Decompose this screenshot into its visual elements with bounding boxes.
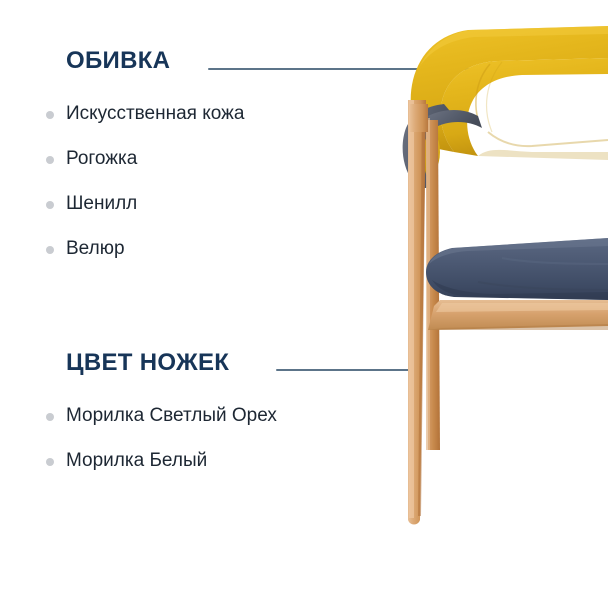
bullet-dot-icon xyxy=(46,458,54,466)
bullet-dot-icon xyxy=(46,201,54,209)
bullet-dot-icon xyxy=(46,246,54,254)
list-item-label: Морилка Белый xyxy=(66,450,207,471)
list-item: Искусственная кожа xyxy=(40,102,244,126)
list-item: Шенилл xyxy=(40,192,244,216)
list-item-label: Искусственная кожа xyxy=(66,103,244,124)
backrest-shadow xyxy=(478,150,608,160)
list-item-label: Велюр xyxy=(66,238,125,259)
list-item: Велюр xyxy=(40,237,244,261)
bullet-list-upholstery: Искусственная кожа Рогожка Шенилл Велюр xyxy=(40,102,244,261)
list-item-label: Морилка Светлый Орех xyxy=(66,405,277,426)
slide-canvas: ОБИВКА Искусственная кожа Рогожка Шенилл… xyxy=(0,0,608,608)
list-item: Морилка Белый xyxy=(40,449,277,473)
chair-seat-cushion xyxy=(426,238,608,300)
list-item-label: Шенилл xyxy=(66,193,137,214)
bullet-dot-icon xyxy=(46,156,54,164)
list-item: Рогожка xyxy=(40,147,244,171)
product-photo-chair xyxy=(382,0,608,608)
section-heading-leg-color: ЦВЕТ НОЖЕК xyxy=(66,348,229,378)
bullet-list-leg-color: Морилка Светлый Орех Морилка Белый xyxy=(40,404,277,473)
bullet-dot-icon xyxy=(46,111,54,119)
chair-upper-post xyxy=(410,104,428,132)
chair-front-leg xyxy=(408,100,426,525)
list-item: Морилка Светлый Орех xyxy=(40,404,277,428)
bullet-dot-icon xyxy=(46,413,54,421)
chair-seat-rail xyxy=(428,300,608,330)
section-heading-upholstery: ОБИВКА xyxy=(66,46,170,76)
list-item-label: Рогожка xyxy=(66,148,137,169)
chair-backrest xyxy=(411,26,608,156)
